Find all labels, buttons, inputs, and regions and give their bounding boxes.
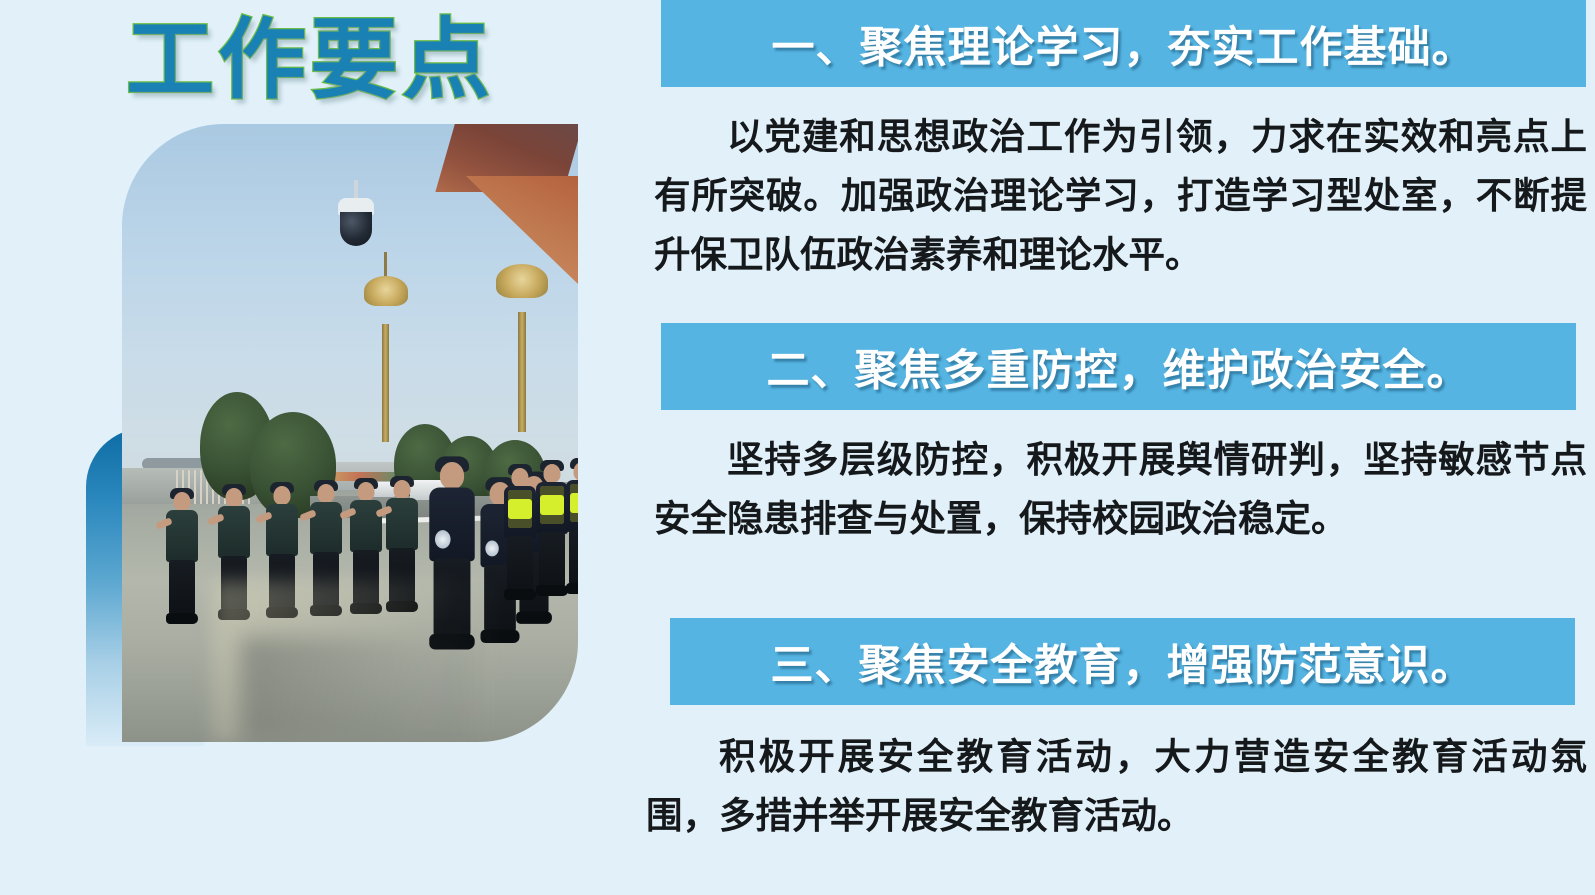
section-one-header-bar: 一、聚焦理论学习，夯实工作基础。 [661, 0, 1586, 87]
photo-shadow [241, 637, 469, 742]
photo-lamp-pole [518, 312, 526, 432]
guard-body [166, 510, 198, 562]
section-two: 二、聚焦多重防控，维护政治安全。 坚持多层级防控，积极开展舆情研判，坚持敏感节点… [640, 323, 1595, 548]
guard-legs [169, 560, 195, 616]
officer-head [440, 462, 464, 489]
guard-body [350, 500, 382, 552]
photo-street-lamp [364, 276, 408, 306]
guard-head [358, 482, 375, 501]
photo-lamp-pole [382, 324, 389, 442]
guard-body [310, 502, 342, 554]
section-three: 三、聚焦安全教育，增强防范意识。 积极开展安全教育活动，大力营造安全教育活动氛围… [640, 618, 1595, 845]
hi-vis-vest [508, 490, 532, 528]
hi-vis-vest [570, 484, 578, 522]
guard-head [394, 480, 411, 499]
guard-legs [539, 532, 565, 588]
photo-street-lamp [496, 264, 548, 298]
section-one: 一、聚焦理论学习，夯实工作基础。 以党建和思想政治工作为引领，力求在实效和亮点上… [640, 0, 1595, 284]
officer-badge [485, 541, 498, 557]
security-guards-photo [122, 124, 578, 742]
guard-boots [166, 613, 198, 624]
section-two-header-bar: 二、聚焦多重防控，维护政治安全。 [661, 323, 1576, 410]
section-two-body-text: 坚持多层级防控，积极开展舆情研判，坚持敏感节点安全隐患排查与处置，保持校园政治稳… [640, 430, 1595, 548]
section-one-body-text: 以党建和思想政治工作为引领，力求在实效和亮点上有所突破。加强政治理论学习，打造学… [640, 107, 1595, 284]
hi-vis-vest [540, 486, 564, 524]
section-three-body-text: 积极开展安全教育活动，大力营造安全教育活动氛围，多措并举开展安全教育活动。 [640, 727, 1595, 845]
officer-body [429, 488, 474, 562]
guard-body [386, 498, 418, 550]
left-column: 工作要点 [0, 0, 640, 895]
guard-body [266, 504, 298, 556]
guard-boots [504, 589, 536, 600]
right-column: 一、聚焦理论学习，夯实工作基础。 以党建和思想政治工作为引领，力求在实效和亮点上… [640, 0, 1595, 895]
officer-badge [435, 530, 451, 548]
section-one-header-text: 一、聚焦理论学习，夯实工作基础。 [772, 13, 1476, 75]
guard-head [318, 484, 335, 503]
guard-head [544, 464, 561, 483]
section-three-header-bar: 三、聚焦安全教育，增强防范意识。 [670, 618, 1575, 705]
guard-legs [569, 530, 578, 586]
guard-body [218, 506, 250, 558]
guard-head [226, 488, 243, 507]
dome-camera-icon [340, 212, 372, 246]
page-title: 工作要点 [0, 14, 620, 106]
guard-head [512, 468, 529, 487]
guard-legs [507, 536, 533, 592]
guard-head [174, 492, 191, 511]
section-three-header-text: 三、聚焦安全教育，增强防范意识。 [771, 631, 1475, 693]
section-two-header-text: 二、聚焦多重防控，维护政治安全。 [767, 336, 1471, 398]
officer-boots [516, 612, 552, 624]
guard-head [274, 486, 291, 505]
guard-boots [566, 583, 578, 594]
guard-boots [536, 585, 568, 596]
